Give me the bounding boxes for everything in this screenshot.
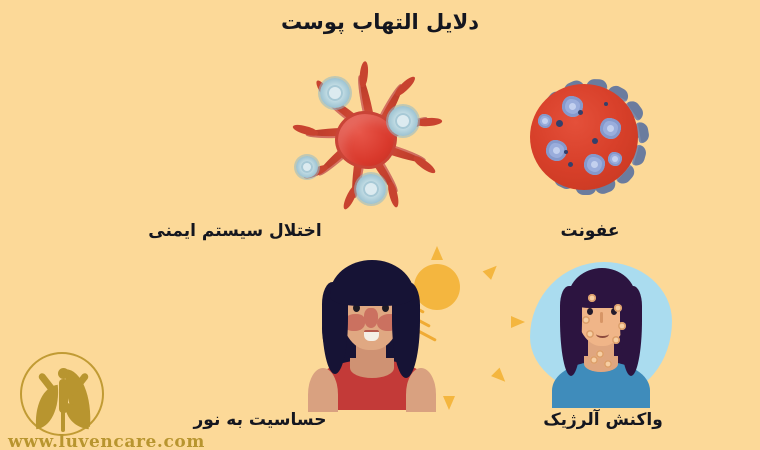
- label-infection: عفونت: [530, 221, 650, 241]
- hive-bump: [588, 294, 596, 302]
- label-immune-disorder: اختلال سیستم ایمنی: [140, 221, 330, 241]
- hive-bump: [618, 322, 626, 330]
- virus-receptor-icon: [600, 118, 621, 139]
- hive-bump: [586, 330, 594, 338]
- page-title: دلایل التهاب پوست: [0, 10, 760, 34]
- watermark: www.luvencare.com: [8, 352, 184, 448]
- label-light-sensitivity: حساسیت به نور: [185, 410, 335, 430]
- infographic-canvas: دلایل التهاب پوست اختلال سیستم ایمنی: [0, 0, 760, 450]
- virus-receptor-icon: [608, 152, 622, 166]
- watermark-url: www.luvencare.com: [8, 432, 184, 450]
- hive-bump: [596, 350, 604, 358]
- hive-bump: [582, 316, 590, 324]
- virus-receptor-icon: [584, 154, 605, 175]
- lymphocyte-icon: [356, 174, 386, 204]
- virus-illustration: [508, 62, 664, 212]
- light-sensitivity-illustration: [292, 256, 482, 408]
- hive-bump: [612, 336, 620, 344]
- label-allergic-reaction: واکنش آلرژیک: [528, 410, 678, 430]
- lymphocyte-icon: [388, 106, 418, 136]
- allergic-reaction-illustration: [526, 256, 678, 408]
- hive-bump: [614, 304, 622, 312]
- hive-bump: [604, 360, 612, 368]
- lymphocyte-icon: [296, 156, 318, 178]
- virus-body: [530, 84, 638, 190]
- immune-cell-illustration: [288, 62, 438, 212]
- virus-receptor-icon: [538, 114, 552, 128]
- luvencare-logo-icon: [8, 352, 118, 436]
- lymphocyte-icon: [320, 78, 350, 108]
